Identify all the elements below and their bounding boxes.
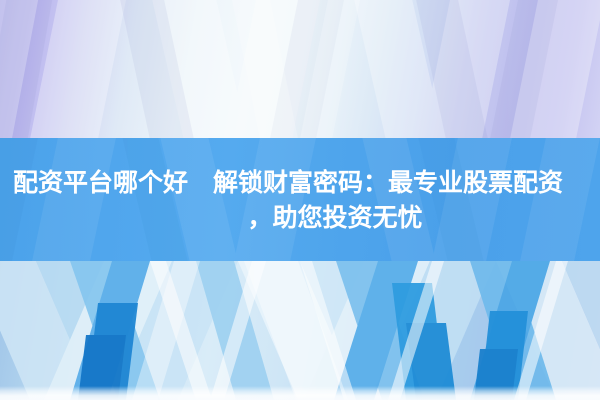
headline-line-1: 配资平台哪个好 解锁财富密码：最专业股票配资 <box>0 165 600 200</box>
headline-band: 配资平台哪个好 解锁财富密码：最专业股票配资 ，助您投资无忧 <box>0 138 600 261</box>
headline-line-2: ，助您投资无忧 <box>0 200 600 235</box>
bottom-fade-strip <box>0 386 600 400</box>
top-decorative-section <box>0 0 600 139</box>
promo-banner: 配资平台哪个好 解锁财富密码：最专业股票配资 ，助您投资无忧 <box>0 0 600 400</box>
headline-text-block: 配资平台哪个好 解锁财富密码：最专业股票配资 ，助您投资无忧 <box>0 138 600 261</box>
bottom-decorative-section <box>0 261 600 400</box>
bottom-chevron-pattern <box>0 261 600 400</box>
top-chevron-pattern <box>0 0 600 139</box>
